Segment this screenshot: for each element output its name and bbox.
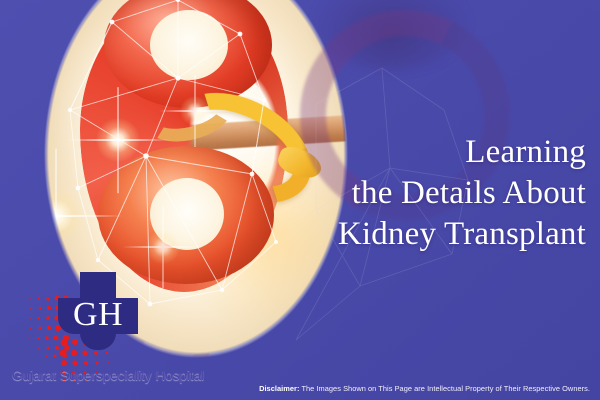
- disclaimer-text: The Images Shown on This Page are Intell…: [299, 384, 590, 393]
- hospital-name: Gujarat Superspeciality Hospital: [12, 368, 190, 384]
- medical-cross-icon: GH: [58, 272, 138, 350]
- disclaimer-label: Disclaimer:: [259, 384, 299, 393]
- logo-monogram: GH: [58, 296, 138, 334]
- hospital-logo[interactable]: GH Gujarat Superspeciality Hospital: [10, 272, 190, 392]
- disclaimer: Disclaimer: The Images Shown on This Pag…: [259, 384, 590, 394]
- kidney-transplant-banner: Learning the Details About Kidney Transp…: [0, 0, 600, 400]
- headline-line-2: the Details About: [166, 173, 586, 214]
- headline-line-1: Learning: [166, 132, 586, 173]
- page-title: Learning the Details About Kidney Transp…: [166, 132, 586, 255]
- headline-line-3: Kidney Transplant: [166, 214, 586, 255]
